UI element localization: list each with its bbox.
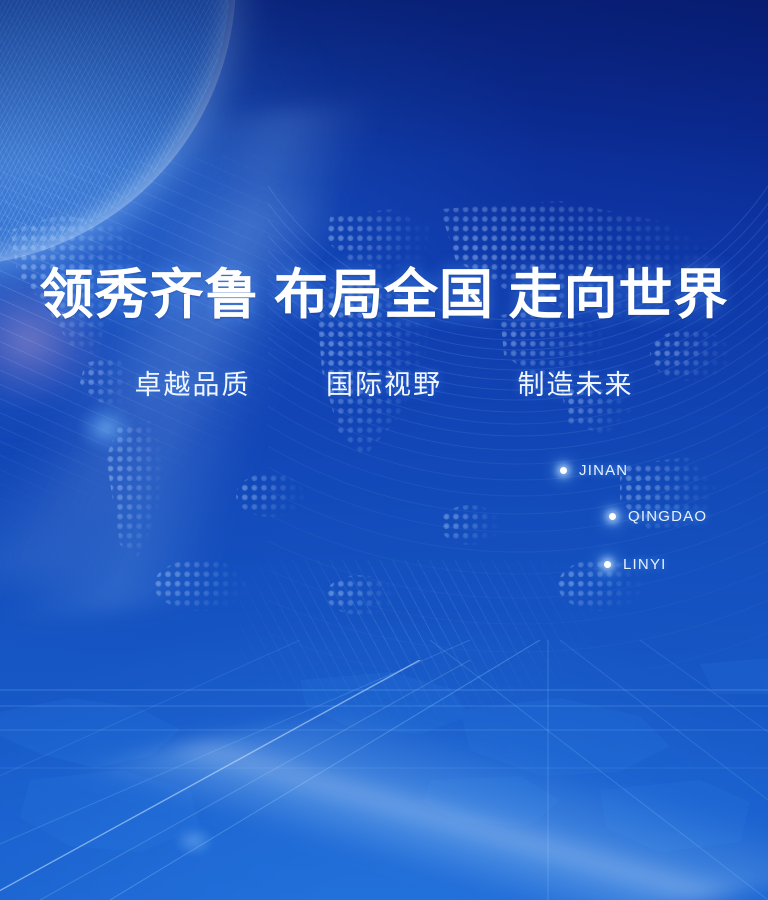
map-marker-linyi[interactable]: LINYI [604,556,667,573]
content-layer: 领秀齐鲁 布局全国 走向世界 卓越品质 国际视野 制造未来 JINAN QING… [0,0,768,900]
map-marker-label: JINAN [579,462,628,479]
map-marker-qingdao[interactable]: QINGDAO [609,508,707,525]
map-marker-label: QINGDAO [628,508,707,525]
subtitle-part-2: 国际视野 [326,370,442,400]
glow-dot-icon [560,467,567,474]
hero-banner: 领秀齐鲁 布局全国 走向世界 卓越品质 国际视野 制造未来 JINAN QING… [0,0,768,900]
glow-dot-icon [604,561,611,568]
subtitle-part-1: 卓越品质 [135,370,251,400]
page-title: 领秀齐鲁 布局全国 走向世界 [0,268,768,322]
subtitle-part-3: 制造未来 [518,370,634,400]
map-marker-label: LINYI [623,556,667,573]
glow-dot-icon [609,513,616,520]
map-marker-jinan[interactable]: JINAN [560,462,628,479]
subtitle: 卓越品质 国际视野 制造未来 [0,372,768,399]
